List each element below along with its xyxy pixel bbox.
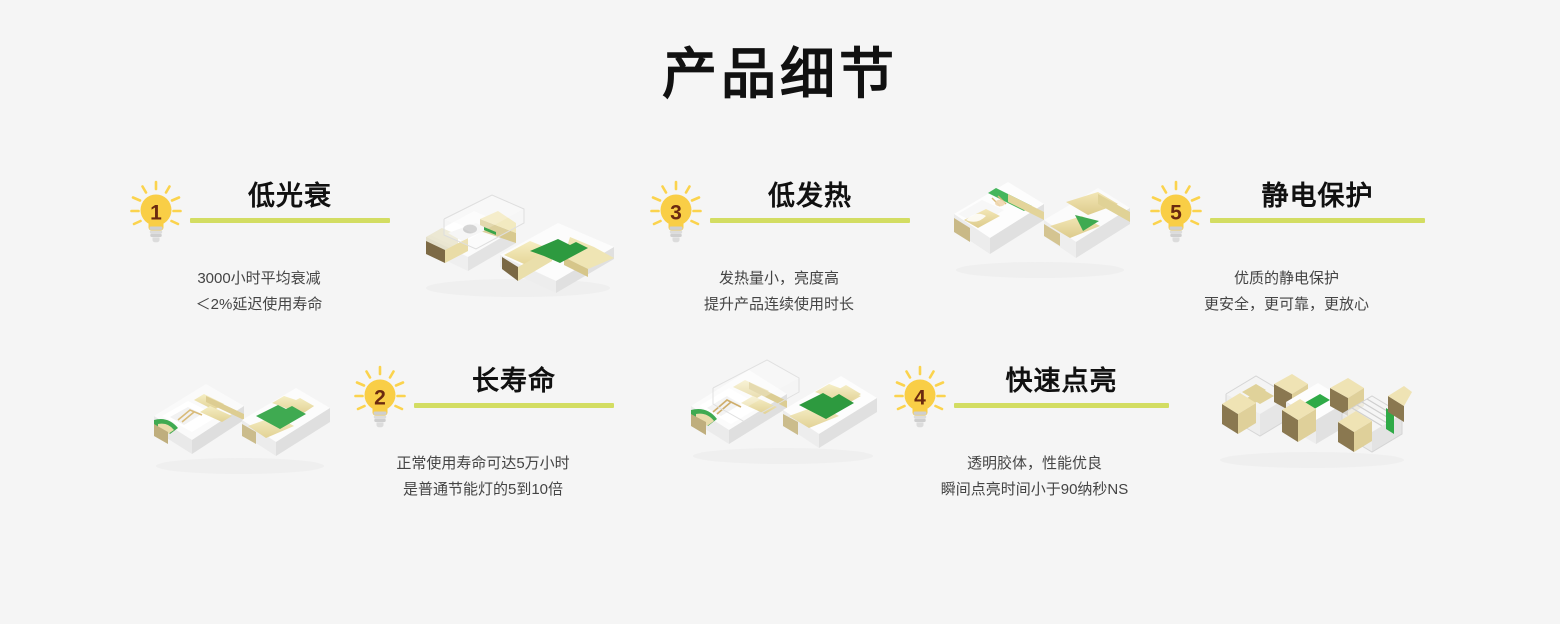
feature-2-heading: 长寿命 [414,365,614,408]
feature-3-heading: 低发热 [710,180,910,223]
feature-5-header: 5 静电保护 [1148,180,1425,246]
feature-4-desc-line-1: 透明胶体，性能优良 [892,451,1177,477]
feature-4-title: 快速点亮 [954,367,1169,397]
feature-1-desc-line-2: ＜2%延迟使用寿命 [128,292,390,318]
feature-4-desc-line-2: 瞬间点亮时间小于90纳秒NS [892,477,1177,503]
feature-block-3: 3 低发热 发热量小，亮度高 提升产品连续使用时长 [648,180,910,319]
feature-1-rule [190,218,390,223]
feature-3-rule [710,218,910,223]
product-image-smd-led-pair-green-pad [148,368,333,478]
feature-2-description: 正常使用寿命可达5万小时 是普通节能灯的5到10倍 [352,451,614,504]
product-image-smd-led-pair-clear-lens [418,185,623,300]
feature-1-title: 低光衰 [190,182,390,212]
feature-4-rule [954,403,1169,408]
lightbulb-icon: 1 [128,180,184,246]
bulb-number-3: 3 [670,202,682,225]
feature-5-description: 优质的静电保护 更安全，更可靠，更放心 [1148,266,1425,319]
product-image-smd-led-trio-upright [1212,352,1412,472]
feature-block-2: 2 长寿命 正常使用寿命可达5万小时 是普通节能灯的5到10倍 [352,365,614,504]
bulb-number-1: 1 [150,202,162,225]
page-title: 产品细节 [0,46,1560,104]
feature-3-title: 低发热 [710,182,910,212]
feature-block-4: 4 快速点亮 透明胶体，性能优良 瞬间点亮时间小于90纳秒NS [892,365,1177,504]
feature-1-description: 3000小时平均衰减 ＜2%延迟使用寿命 [128,266,390,319]
feature-3-desc-line-2: 提升产品连续使用时长 [648,292,910,318]
feature-4-description: 透明胶体，性能优良 瞬间点亮时间小于90纳秒NS [892,451,1177,504]
feature-1-header: 1 低光衰 [128,180,390,246]
bulb-number-5: 5 [1170,202,1182,225]
feature-3-desc-line-1: 发热量小，亮度高 [648,266,910,292]
feature-5-heading: 静电保护 [1210,180,1425,223]
lightbulb-icon: 4 [892,365,948,431]
product-image-smd-led-pair-gold-wire [683,352,883,467]
feature-2-rule [414,403,614,408]
feature-5-rule [1210,218,1425,223]
product-image-smd-led-pair-green-triangle [948,168,1133,283]
feature-2-desc-line-2: 是普通节能灯的5到10倍 [352,477,614,503]
feature-2-desc-line-1: 正常使用寿命可达5万小时 [352,451,614,477]
lightbulb-icon: 3 [648,180,704,246]
feature-4-heading: 快速点亮 [954,365,1169,408]
bulb-number-4: 4 [914,387,926,410]
feature-1-desc-line-1: 3000小时平均衰减 [128,266,390,292]
feature-5-title: 静电保护 [1210,182,1425,212]
feature-5-desc-line-1: 优质的静电保护 [1148,266,1425,292]
feature-4-header: 4 快速点亮 [892,365,1177,431]
lightbulb-icon: 5 [1148,180,1204,246]
feature-5-desc-line-2: 更安全，更可靠，更放心 [1148,292,1425,318]
bulb-number-2: 2 [374,387,386,410]
feature-3-header: 3 低发热 [648,180,910,246]
feature-2-title: 长寿命 [414,367,614,397]
feature-2-header: 2 长寿命 [352,365,614,431]
feature-3-description: 发热量小，亮度高 提升产品连续使用时长 [648,266,910,319]
lightbulb-icon: 2 [352,365,408,431]
feature-block-5: 5 静电保护 优质的静电保护 更安全，更可靠，更放心 [1148,180,1425,319]
feature-1-heading: 低光衰 [190,180,390,223]
feature-block-1: 1 低光衰 3000小时平均衰减 ＜2%延迟使用寿命 [128,180,390,319]
